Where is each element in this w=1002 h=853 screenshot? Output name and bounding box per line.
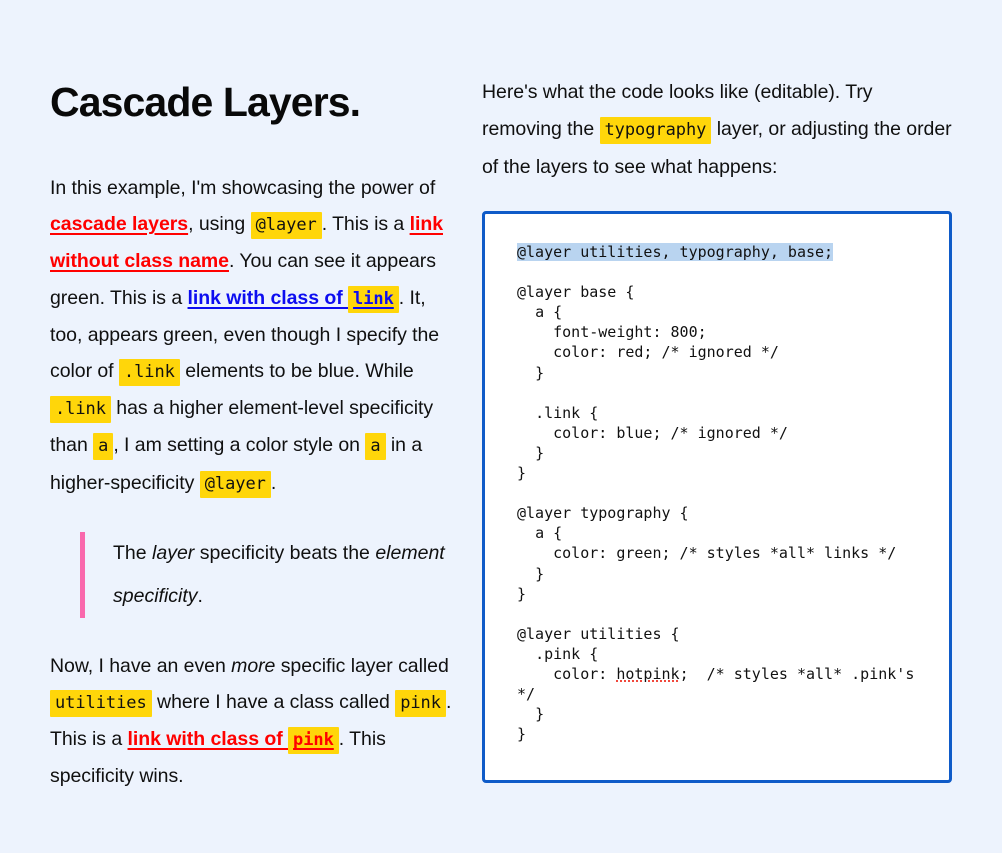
page-title: Cascade Layers. — [50, 80, 456, 126]
code-chip-at-layer-2: @layer — [200, 471, 271, 498]
left-column: Cascade Layers. In this example, I'm sho… — [50, 62, 482, 813]
code-chip-dot-link-2: .link — [50, 396, 111, 423]
code-chip-at-layer: @layer — [251, 212, 322, 239]
code-chip-a-1: a — [93, 433, 113, 460]
pull-quote: The layer specificity beats the element … — [80, 532, 456, 618]
code-chip-typography: typography — [600, 117, 712, 144]
code-editor-panel[interactable]: @layer utilities, typography, base; @lay… — [482, 211, 952, 783]
code-chip-utilities: utilities — [50, 690, 152, 717]
quote-text-3: . — [198, 585, 203, 607]
paragraph1-text-3: . This is a — [322, 213, 410, 235]
paragraph1-text-6: elements to be blue. While — [180, 360, 414, 382]
code-chip-link: link — [348, 286, 399, 313]
explanation-paragraph: In this example, I'm showcasing the powe… — [50, 170, 456, 502]
paragraph1-text-2: , using — [188, 213, 250, 235]
quote-emphasis-layer: layer — [152, 542, 194, 564]
paragraph2-text-1: Now, I have an even — [50, 655, 231, 677]
code-body-before-spellcheck[interactable]: @layer base { a { font-weight: 800; colo… — [517, 283, 896, 683]
right-column: Here's what the code looks like (editabl… — [482, 62, 952, 813]
paragraph2-emphasis-more: more — [231, 655, 275, 677]
cascade-layers-demo-page: Cascade Layers. In this example, I'm sho… — [0, 0, 1002, 853]
paragraph1-text-10: . — [271, 472, 276, 494]
code-chip-a-2: a — [365, 433, 385, 460]
paragraph2-text-3: where I have a class called — [152, 691, 396, 713]
paragraph1-text-8: , I am setting a color style on — [113, 434, 365, 456]
code-chip-dot-link-1: .link — [119, 359, 180, 386]
paragraph1-text-1: In this example, I'm showcasing the powe… — [50, 177, 435, 199]
paragraph2-text-2: specific layer called — [275, 655, 448, 677]
editor-intro-paragraph: Here's what the code looks like (editabl… — [482, 74, 952, 186]
utilities-paragraph: Now, I have an even more specific layer … — [50, 648, 456, 795]
link-with-class-of-link[interactable]: link with class of link — [188, 287, 399, 309]
quote-text-1: The — [113, 542, 152, 564]
quote-text-2: specificity beats the — [194, 542, 375, 564]
link-with-class-of-pink-label: link with class of — [128, 728, 289, 750]
css-code-block[interactable]: @layer utilities, typography, base; @lay… — [517, 242, 935, 744]
code-chip-pink: pink — [395, 690, 446, 717]
code-chip-pink-in-link: pink — [288, 727, 339, 754]
link-cascade-layers[interactable]: cascade layers — [50, 213, 188, 235]
link-with-class-of-pink[interactable]: link with class of pink — [128, 728, 339, 750]
selected-code-line[interactable]: @layer utilities, typography, base; — [517, 243, 833, 261]
link-with-class-of-link-label: link with class of — [188, 287, 349, 309]
spellchecked-word-hotpink[interactable]: hotpink — [616, 665, 679, 683]
